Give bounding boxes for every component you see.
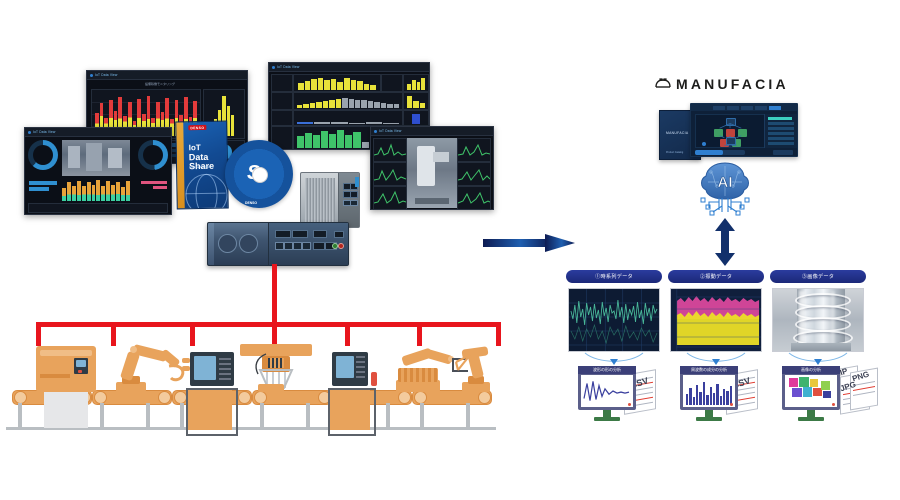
card-pill: ①時系列データ — [566, 270, 662, 283]
gauge-right — [138, 140, 168, 170]
ai-engine-icon: AI — [695, 160, 755, 218]
console-action-button[interactable] — [773, 150, 793, 155]
app-dot-icon — [28, 131, 31, 134]
network-bus — [36, 322, 501, 327]
tab-settings[interactable] — [769, 106, 781, 110]
app-dot-icon — [90, 74, 93, 77]
waveform-icon — [458, 187, 490, 209]
camera-feed — [62, 140, 130, 176]
gauge-left — [28, 140, 58, 170]
flow-arrow-right — [483, 232, 575, 254]
analysis-title-bar: 波形の形の分析 — [578, 366, 636, 374]
waveform-icon — [374, 187, 406, 209]
bus-drop-2 — [111, 322, 116, 346]
card-pill-label: ①時系列データ — [595, 273, 633, 280]
window-titlebar: IoT Data View — [371, 127, 493, 136]
card-pill-label: ②振動データ — [700, 273, 732, 280]
tab-data[interactable] — [713, 106, 725, 110]
bus-drop-3 — [190, 322, 195, 346]
node-graph-canvas[interactable] — [695, 114, 765, 148]
card-pill: ②振動データ — [668, 270, 764, 283]
manufacia-console[interactable] — [690, 103, 798, 157]
box-spine — [176, 122, 184, 208]
funnel-3 — [788, 352, 848, 366]
brochure-title: MANUFACIA — [666, 131, 688, 135]
bus-drop-main — [272, 264, 277, 326]
software-edition: Standard Edition — [189, 165, 211, 169]
app-dot-icon — [272, 66, 275, 69]
bus-drop-5 — [345, 322, 350, 346]
software-line2: Data Share — [189, 153, 227, 173]
node-links — [696, 115, 764, 147]
disc-brand: DENSO — [245, 201, 257, 205]
dashboard-title: IoT Data View — [95, 73, 118, 77]
status-strip — [28, 203, 168, 213]
disc-hole — [252, 167, 268, 183]
vibration-spectrogram — [670, 288, 762, 352]
waveform-icon — [374, 163, 406, 185]
bus-drop-4 — [272, 322, 277, 346]
ai-label: AI — [718, 174, 733, 191]
tab-infer[interactable] — [755, 106, 767, 110]
diagram-canvas: IoT Data View 設備稼働モニタリング — [0, 0, 900, 500]
dashboard-subtitle: 設備稼働モニタリング — [145, 82, 175, 86]
bus-drop-6 — [417, 322, 422, 346]
dashboard-robot[interactable]: IoT Data View — [370, 126, 494, 210]
waveform-icon — [458, 139, 490, 161]
card-pill: ③画像データ — [770, 270, 866, 283]
data-card-timeseries: ①時系列データ — [566, 270, 662, 352]
software-disc: S DENSO — [225, 140, 293, 208]
card-pill-label: ③画像データ — [802, 273, 834, 280]
window-titlebar: IoT Data View — [25, 128, 171, 137]
console-side-panel[interactable] — [764, 114, 797, 148]
analysis-title: 波形の形の分析 — [593, 367, 621, 373]
analysis-title: 画像の分析 — [801, 367, 821, 373]
analysis-image: BMP JPG PNG 画像の分析 — [782, 366, 872, 428]
dashboard-title: IoT Data View — [277, 65, 300, 69]
cable-icon — [248, 352, 270, 376]
manufacia-wordmark: MANUFACIA — [676, 76, 789, 92]
window-titlebar: IoT Data View — [87, 71, 247, 80]
denso-logo: DENSO — [188, 125, 206, 130]
data-card-image: ③画像データ — [770, 270, 866, 352]
analysis-frequency: CSV 周波数の成分の分析 — [680, 366, 752, 428]
timeseries-plot — [568, 288, 660, 352]
tab-eval[interactable] — [741, 106, 753, 110]
funnel-2 — [686, 352, 746, 366]
frequency-bars — [686, 381, 732, 405]
manufacia-mark-icon — [655, 78, 671, 91]
waveform-icon — [458, 163, 490, 185]
camera-bars — [62, 179, 130, 201]
analysis-title: 周波数の成分の分析 — [691, 367, 727, 373]
funnel-1 — [584, 352, 644, 366]
industrial-pc — [207, 222, 349, 266]
bidirectional-arrow — [713, 218, 737, 266]
app-dot-icon — [374, 130, 377, 133]
bus-drop-1 — [36, 322, 41, 346]
waveform-icon — [374, 139, 406, 161]
data-card-vibration: ②振動データ — [668, 270, 764, 352]
edge-controller — [300, 172, 360, 228]
analysis-title-bar: 周波数の成分の分析 — [680, 366, 738, 374]
dashboard-camera[interactable]: IoT Data View — [24, 127, 172, 215]
robot-camera-feed — [407, 138, 457, 208]
analysis-waveform: CSV 波形の形の分析 — [578, 366, 650, 428]
tab-train[interactable] — [727, 106, 739, 110]
dashboard-title: IoT Data View — [33, 130, 56, 134]
dashboard-title: IoT Data View — [379, 129, 402, 133]
bus-drop-7 — [496, 322, 501, 346]
bottle-photo — [772, 288, 864, 352]
analysis-title-bar: 画像の分析 — [782, 366, 840, 374]
waveform-chart — [581, 375, 633, 407]
window-titlebar: IoT Data View — [269, 63, 429, 72]
progress-bar — [695, 150, 745, 155]
brochure-caption: Product Catalog — [666, 151, 683, 154]
gripper-icon — [452, 352, 474, 376]
console-tabbar[interactable] — [691, 104, 797, 111]
software-box: DENSO IoT Data Share Standard Edition — [175, 121, 229, 210]
